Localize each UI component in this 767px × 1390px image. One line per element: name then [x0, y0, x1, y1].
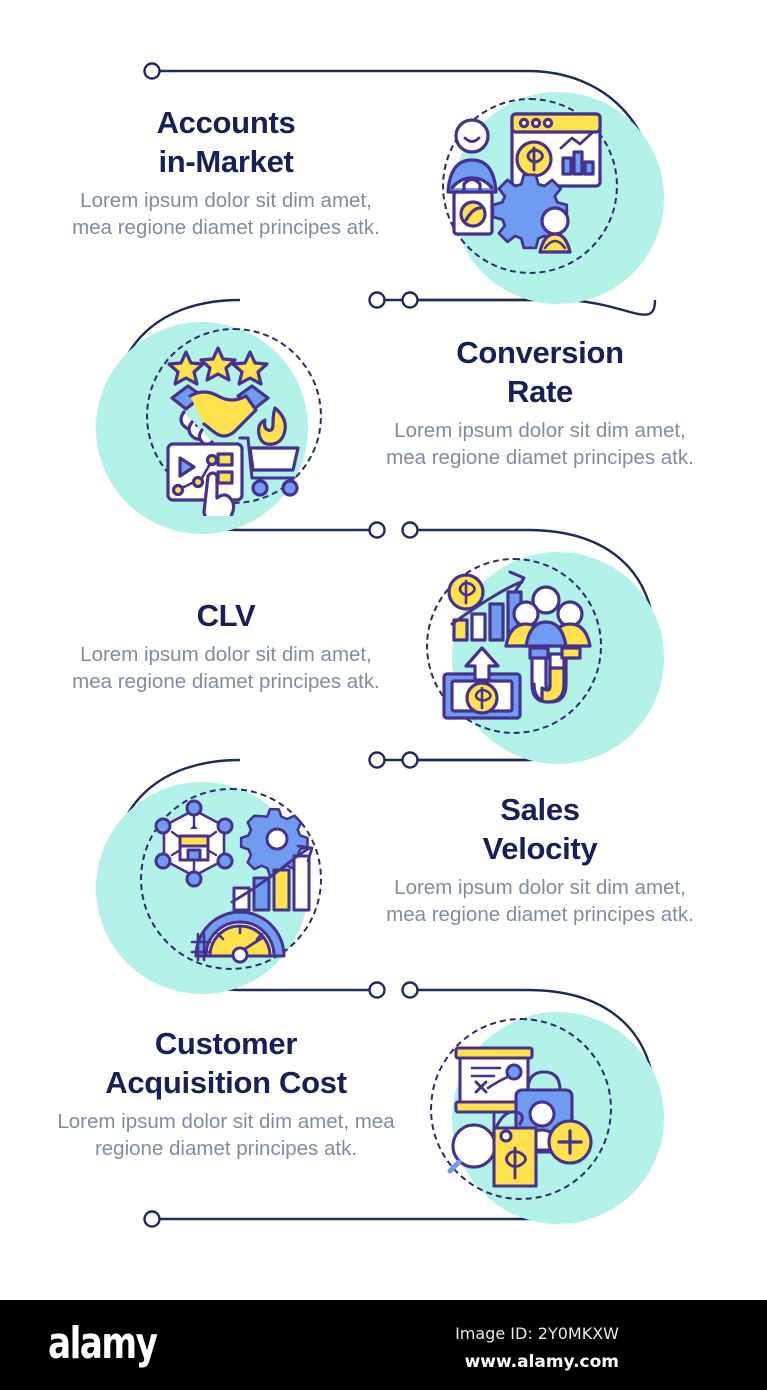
node-2-left [370, 523, 385, 538]
alamy-url-label[interactable]: www.alamy.com [465, 1352, 619, 1372]
customer-acquisition-cost-icon [432, 1018, 612, 1198]
sales-velocity-icon [146, 792, 326, 972]
node-end [145, 1212, 160, 1227]
section-1-description: Lorem ipsum dolor sit dim amet, mea regi… [66, 187, 386, 242]
alamy-logo: alamy [48, 1318, 156, 1369]
section-1-title: Accounts in-Market [66, 103, 386, 181]
node-1-right [403, 293, 418, 308]
section-1-title-line1: Accounts [157, 105, 296, 140]
section-1-text-block: Accounts in-Market Lorem ipsum dolor sit… [66, 103, 386, 242]
node-start [145, 64, 160, 79]
node-2-right [403, 523, 418, 538]
node-3-right [403, 753, 418, 768]
section-1-title-line2: in-Market [158, 144, 293, 179]
node-4-left [370, 983, 385, 998]
section-3-description: Lorem ipsum dolor sit dim amet, mea regi… [66, 641, 386, 696]
alamy-watermark-bar: alamy Image ID: 2Y0MKXW www.alamy.com [0, 1300, 767, 1390]
section-5-text-block: Customer Acquisition Cost Lorem ipsum do… [56, 1024, 396, 1163]
section-2-title-line2: Rate [507, 374, 573, 409]
section-2-description: Lorem ipsum dolor sit dim amet, mea regi… [380, 417, 700, 472]
section-2-title-line1: Conversion [456, 335, 624, 370]
section-4-title-line1: Sales [500, 792, 580, 827]
image-id-label: Image ID: 2Y0MKXW [455, 1324, 619, 1343]
node-4-right [403, 983, 418, 998]
infographic-canvas: Accounts in-Market Lorem ipsum dolor sit… [0, 0, 767, 1300]
section-5-title-line1: Customer [155, 1026, 297, 1061]
section-5-title-line2: Acquisition Cost [105, 1065, 346, 1100]
section-4-title: Sales Velocity [380, 790, 700, 868]
section-4-description: Lorem ipsum dolor sit dim amet, mea regi… [380, 874, 700, 929]
node-1-left [370, 293, 385, 308]
section-2-title: Conversion Rate [380, 333, 700, 411]
node-3-left [370, 753, 385, 768]
section-4-title-line2: Velocity [483, 831, 598, 866]
clv-icon [430, 558, 610, 738]
section-3-title: CLV [66, 596, 386, 635]
section-3-text-block: CLV Lorem ipsum dolor sit dim amet, mea … [66, 596, 386, 696]
section-5-description: Lorem ipsum dolor sit dim amet, mea regi… [56, 1108, 396, 1163]
accounts-in-market-icon [430, 96, 620, 286]
conversion-rate-icon [140, 326, 330, 516]
section-4-text-block: Sales Velocity Lorem ipsum dolor sit dim… [380, 790, 700, 929]
section-3-title-line1: CLV [197, 598, 256, 633]
section-5-title: Customer Acquisition Cost [56, 1024, 396, 1102]
section-2-text-block: Conversion Rate Lorem ipsum dolor sit di… [380, 333, 700, 472]
